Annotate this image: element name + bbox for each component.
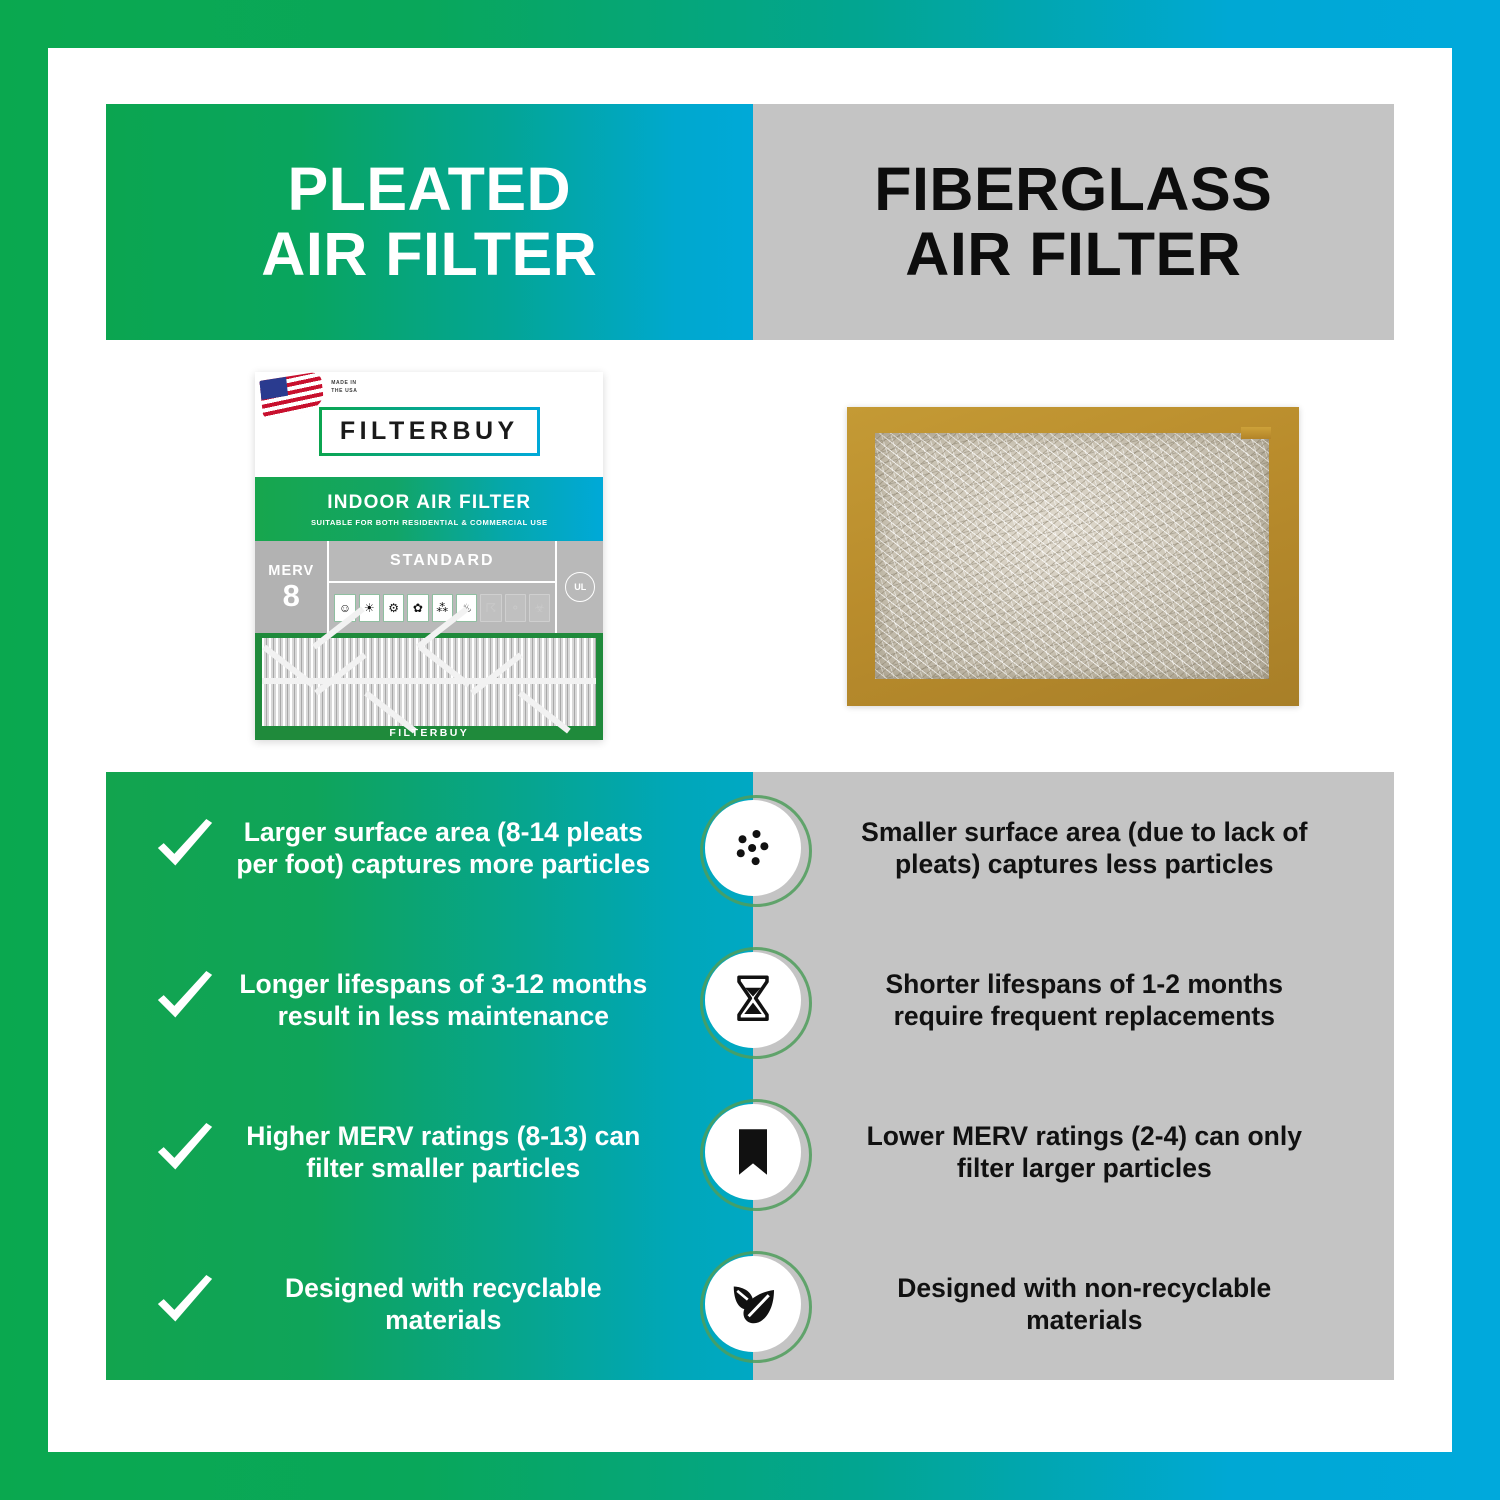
comparison-row: Designed with recyclable materials Desig… xyxy=(106,1228,1394,1380)
fiberglass-header-panel: FIBERGLASS AIR FILTER xyxy=(753,104,1394,340)
checkmark-icon xyxy=(154,1121,216,1183)
comparison-row: Higher MERV ratings (8-13) can filter sm… xyxy=(106,1076,1394,1228)
pleat-texture xyxy=(262,638,596,726)
header-row: PLEATED AIR FILTER FIBERGLASS AIR FILTER xyxy=(106,104,1394,340)
pleated-benefit-cell: Higher MERV ratings (8-13) can filter sm… xyxy=(106,1076,753,1228)
fiberglass-frame-lip xyxy=(1241,427,1271,439)
made-in-usa-label: MADE IN THE USA xyxy=(331,380,357,395)
fiberglass-drawback-text: Shorter lifespans of 1-2 months require … xyxy=(771,968,1376,1033)
pleated-benefit-text: Higher MERV ratings (8-13) can filter sm… xyxy=(236,1120,735,1185)
pleated-benefit-text: Longer lifespans of 3-12 months result i… xyxy=(236,968,735,1033)
leaf-icon xyxy=(705,1256,801,1352)
comparison-table: Larger surface area (8-14 pleats per foo… xyxy=(106,772,1394,1380)
virus-icon: ☣ xyxy=(529,594,550,622)
hourglass-icon xyxy=(705,952,801,1048)
pleated-benefit-cell: Longer lifespans of 3-12 months result i… xyxy=(106,924,753,1076)
bookmark-icon xyxy=(705,1104,801,1200)
mold-icon: ✿ xyxy=(407,594,428,622)
product-image-row: MADE IN THE USA FILTERBUY INDOOR AIR FIL… xyxy=(106,340,1394,772)
fiberglass-drawback-text: Designed with non-recyclable materials xyxy=(771,1272,1376,1337)
product-box-spec-area: MERV 8 STANDARD ☺ ☀ ⚙ ✿ ⁂ ♨ xyxy=(255,541,603,633)
pleated-header-title: PLEATED AIR FILTER xyxy=(261,157,597,286)
particles-icon xyxy=(705,800,801,896)
filterbuy-product-box: MADE IN THE USA FILTERBUY INDOOR AIR FIL… xyxy=(255,372,603,740)
fiberglass-product-cell xyxy=(753,407,1394,706)
ul-certification-block: UL xyxy=(555,541,603,633)
pleated-benefit-cell: Larger surface area (8-14 pleats per foo… xyxy=(106,772,753,924)
fiberglass-filter-image xyxy=(847,407,1299,706)
fiberglass-drawback-text: Smaller surface area (due to lack of ple… xyxy=(771,816,1376,881)
usa-flag-icon xyxy=(260,372,325,419)
checkmark-icon xyxy=(154,1273,216,1335)
product-box-top: MADE IN THE USA FILTERBUY xyxy=(255,372,603,477)
infographic-canvas: PLEATED AIR FILTER FIBERGLASS AIR FILTER… xyxy=(48,48,1452,1452)
fiberglass-drawback-cell: Designed with non-recyclable materials xyxy=(753,1228,1394,1380)
product-footer-brand: FILTERBUY xyxy=(255,727,603,739)
fiberglass-header-title: FIBERGLASS AIR FILTER xyxy=(874,157,1272,286)
ul-badge-icon: UL xyxy=(565,572,595,602)
checkmark-icon xyxy=(154,969,216,1031)
bacteria-icon: ⚬ xyxy=(505,594,526,622)
pleated-header-panel: PLEATED AIR FILTER xyxy=(106,104,753,340)
comparison-row: Larger surface area (8-14 pleats per foo… xyxy=(106,772,1394,924)
smoke-icon: ☈ xyxy=(480,594,501,622)
merv-label: MERV xyxy=(268,563,314,579)
indoor-air-filter-label: INDOOR AIR FILTER xyxy=(327,492,531,514)
merv-value: 8 xyxy=(283,581,300,610)
product-box-band: INDOOR AIR FILTER SUITABLE FOR BOTH RESI… xyxy=(255,477,603,541)
support-wire-diag-6 xyxy=(470,652,523,695)
pleated-benefit-text: Larger surface area (8-14 pleats per foo… xyxy=(236,816,735,881)
pleated-filter-media: FILTERBUY xyxy=(255,633,603,740)
comparison-row: Longer lifespans of 3-12 months result i… xyxy=(106,924,1394,1076)
grade-label: STANDARD xyxy=(329,541,555,583)
pleated-product-cell: MADE IN THE USA FILTERBUY INDOOR AIR FIL… xyxy=(106,372,753,740)
fiberglass-drawback-cell: Lower MERV ratings (2-4) can only filter… xyxy=(753,1076,1394,1228)
filterbuy-logo: FILTERBUY xyxy=(319,407,540,456)
checkmark-icon xyxy=(154,817,216,879)
fiberglass-mesh-texture xyxy=(875,433,1269,679)
filterbuy-logo-text: FILTERBUY xyxy=(340,417,519,445)
pollen-icon: ⚙ xyxy=(383,594,404,622)
support-wire-diag-2 xyxy=(314,652,367,695)
usage-subtitle: SUITABLE FOR BOTH RESIDENTIAL & COMMERCI… xyxy=(311,518,548,527)
comparison-infographic: PLEATED AIR FILTER FIBERGLASS AIR FILTER… xyxy=(0,0,1500,1500)
product-box-grade-area: STANDARD ☺ ☀ ⚙ ✿ ⁂ ♨ ☈ ⚬ ☣ xyxy=(329,541,555,633)
fiberglass-drawback-cell: Smaller surface area (due to lack of ple… xyxy=(753,772,1394,924)
pleated-benefit-text: Designed with recyclable materials xyxy=(236,1272,735,1337)
pleated-benefit-cell: Designed with recyclable materials xyxy=(106,1228,753,1380)
merv-rating-block: MERV 8 xyxy=(255,541,329,633)
fiberglass-drawback-cell: Shorter lifespans of 1-2 months require … xyxy=(753,924,1394,1076)
fiberglass-drawback-text: Lower MERV ratings (2-4) can only filter… xyxy=(771,1120,1376,1185)
